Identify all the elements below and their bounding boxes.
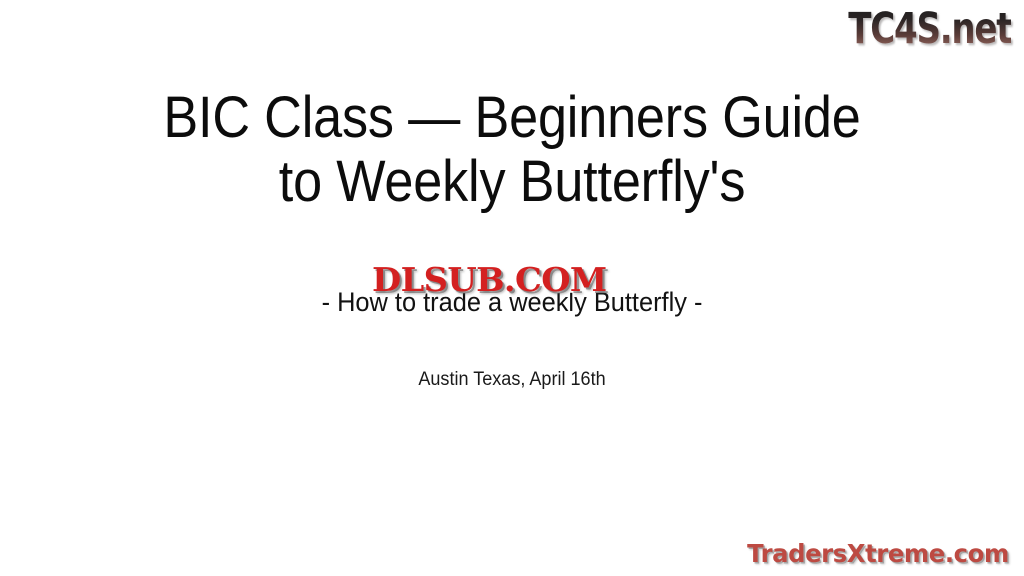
title-line-2: to Weekly Butterfly's [51, 150, 973, 214]
slide-date-location: Austin Texas, April 16th [26, 369, 999, 391]
dlsub-watermark: DLSUB.COM [372, 260, 607, 299]
presentation-slide: BIC Class — Beginners Guide to Weekly Bu… [0, 0, 1024, 576]
title-line-1: BIC Class — Beginners Guide [51, 86, 973, 150]
page-title: BIC Class — Beginners Guide to Weekly Bu… [0, 86, 1024, 214]
tradersxtreme-watermark: TradersXtreme.com [747, 539, 1009, 568]
tc4s-watermark: TC4S.net [848, 4, 1011, 54]
